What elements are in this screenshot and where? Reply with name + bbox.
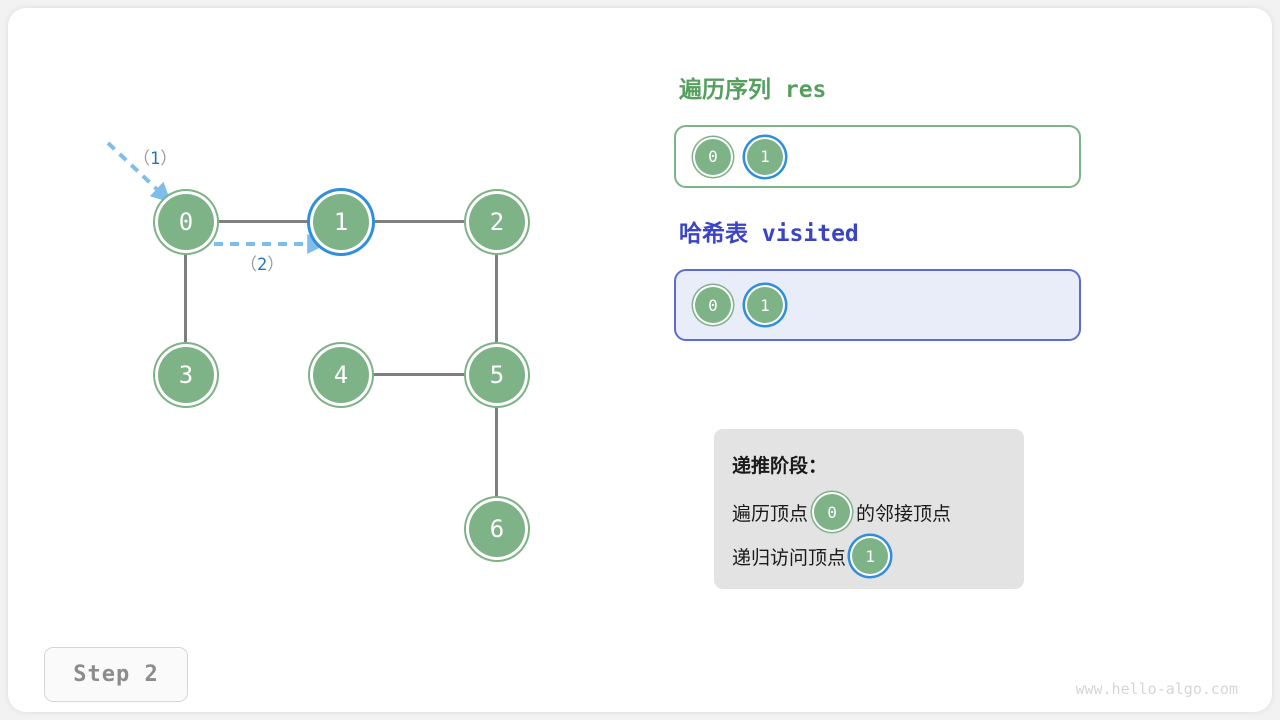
explanation-line-1-prefix: 遍历顶点 — [732, 499, 808, 526]
content-card: （1） （2） 0 1 2 3 4 5 6 遍历序列 res 0 1 哈希表 v… — [8, 8, 1272, 712]
visited-hashset-box: 0 1 — [674, 269, 1081, 341]
res-chip-1[interactable]: 1 — [747, 139, 783, 175]
explanation-line-2: 递归访问顶点 1 — [732, 538, 1024, 574]
arrow-label-2-open: （ — [240, 255, 257, 275]
visited-chip-0[interactable]: 0 — [695, 287, 731, 323]
graph-panel: （1） （2） 0 1 2 3 4 5 6 — [8, 8, 648, 728]
arrow-label-1-open: （ — [133, 149, 150, 169]
arrow-label-2-number: 2 — [257, 255, 267, 275]
graph-node-0[interactable]: 0 — [158, 194, 214, 250]
graph-node-1[interactable]: 1 — [313, 194, 369, 250]
graph-node-2[interactable]: 2 — [469, 194, 525, 250]
res-sequence-box: 0 1 — [674, 125, 1081, 188]
info-panel: 遍历序列 res 0 1 哈希表 visited 0 1 递推阶段： 遍历顶点 … — [648, 8, 1280, 728]
site-watermark: www.hello-algo.com — [1075, 680, 1238, 698]
explanation-box: 递推阶段： 遍历顶点 0 的邻接顶点 递归访问顶点 1 — [714, 429, 1024, 589]
arrow-label-1: （1） — [133, 144, 177, 169]
arrow-label-1-close: ） — [160, 149, 177, 169]
explanation-line-1: 遍历顶点 0 的邻接顶点 — [732, 494, 1024, 530]
explanation-chip-1: 1 — [852, 538, 888, 574]
res-chip-0[interactable]: 0 — [695, 139, 731, 175]
step-badge: Step 2 — [44, 647, 188, 702]
visited-section-title: 哈希表 visited — [679, 214, 859, 248]
graph-node-5[interactable]: 5 — [469, 347, 525, 403]
screenshot-root: （1） （2） 0 1 2 3 4 5 6 遍历序列 res 0 1 哈希表 v… — [0, 0, 1280, 720]
explanation-heading: 递推阶段： — [732, 451, 1024, 478]
res-section-title: 遍历序列 res — [679, 70, 826, 104]
explanation-line-2-prefix: 递归访问顶点 — [732, 543, 846, 570]
visited-chip-1[interactable]: 1 — [747, 287, 783, 323]
explanation-chip-0: 0 — [814, 494, 850, 530]
explanation-line-1-suffix: 的邻接顶点 — [856, 499, 951, 526]
graph-node-4[interactable]: 4 — [313, 347, 369, 403]
arrow-label-1-number: 1 — [150, 149, 160, 169]
graph-node-3[interactable]: 3 — [158, 347, 214, 403]
graph-node-6[interactable]: 6 — [469, 501, 525, 557]
arrow-label-2-close: ） — [267, 255, 284, 275]
arrow-label-2: （2） — [240, 250, 284, 275]
